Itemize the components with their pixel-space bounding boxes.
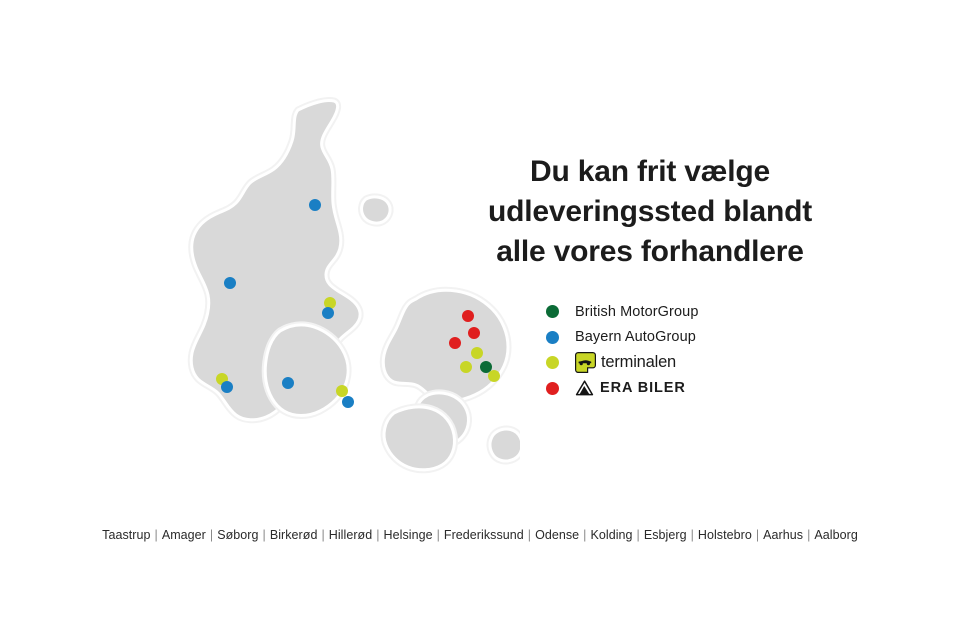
city-birker-d: Birkerød xyxy=(270,528,318,542)
city-kolding: Kolding xyxy=(590,528,632,542)
legend-swatch-dot xyxy=(546,331,559,344)
legend-item-era-biler[interactable]: ERA BILER xyxy=(546,376,846,402)
map-dot-helsinge[interactable]: Helsinge — ERA BILER xyxy=(462,310,474,322)
headline-line-1: Du kan frit vælge xyxy=(455,152,845,192)
city-separator: | xyxy=(633,528,644,542)
map-dot-aarhus[interactable]: Aarhus — Bayern AutoGroup xyxy=(322,307,334,319)
legend-item-label: terminalen xyxy=(601,353,676,372)
era-biler-lockup: ERA BILER xyxy=(575,380,686,397)
terminalen-logo-icon xyxy=(575,352,596,373)
city-taastrup: Taastrup xyxy=(102,528,150,542)
city-separator: | xyxy=(317,528,328,542)
map-dot-esbjerg[interactable]: Esbjerg — Bayern AutoGroup xyxy=(221,381,233,393)
city-aarhus: Aarhus xyxy=(763,528,803,542)
city-separator: | xyxy=(151,528,162,542)
city-esbjerg: Esbjerg xyxy=(644,528,687,542)
legend-swatch-dot xyxy=(546,305,559,318)
city-separator: | xyxy=(687,528,698,542)
city-holstebro: Holstebro xyxy=(698,528,752,542)
legend-item-bayern-autogroup[interactable]: Bayern AutoGroup xyxy=(546,325,846,351)
city-separator: | xyxy=(803,528,814,542)
headline-line-2: udleveringssted blandt xyxy=(455,192,845,232)
map-dot-amager[interactable]: Amager — British MotorGroup xyxy=(480,361,492,373)
legend-item-british-motorgroup[interactable]: British MotorGroup xyxy=(546,299,846,325)
map-dot-birker-d[interactable]: Birkerød — terminalen xyxy=(471,347,483,359)
city-separator: | xyxy=(524,528,535,542)
city-odense: Odense xyxy=(535,528,579,542)
map-dot-taastrup[interactable]: Taastrup — terminalen xyxy=(488,370,500,382)
map-region-laeso xyxy=(362,197,391,223)
city-separator: | xyxy=(433,528,444,542)
city-helsinge: Helsinge xyxy=(384,528,433,542)
legend-item-label: British MotorGroup xyxy=(575,304,698,320)
city-separator: | xyxy=(579,528,590,542)
city-hiller-d: Hillerød xyxy=(329,528,372,542)
page-title: Du kan frit vælge udleveringssted blandt… xyxy=(455,152,845,272)
city-amager: Amager xyxy=(162,528,206,542)
legend-item-label: Bayern AutoGroup xyxy=(575,329,696,345)
city-separator: | xyxy=(752,528,763,542)
city-frederikssund: Frederikssund xyxy=(444,528,524,542)
legend-item-label: ERA BILER xyxy=(600,380,686,396)
map-region-funen xyxy=(265,325,348,416)
map-dot-aalborg[interactable]: Aalborg — Bayern AutoGroup xyxy=(309,199,321,211)
city-separator: | xyxy=(259,528,270,542)
city-separator: | xyxy=(372,528,383,542)
map-dot-aarhus[interactable]: Aarhus — terminalen xyxy=(324,297,336,309)
legend-item-terminalen[interactable]: terminalen xyxy=(546,350,846,376)
legend-swatch-dot xyxy=(546,382,559,395)
map-dot-kolding[interactable]: Kolding — Bayern AutoGroup xyxy=(282,377,294,389)
map-region-bornholm xyxy=(490,429,520,461)
terminalen-lockup: terminalen xyxy=(575,352,676,373)
city-aalborg: Aalborg xyxy=(814,528,857,542)
map-dot-odense[interactable]: Odense — Bayern AutoGroup xyxy=(342,396,354,408)
headline-line-3: alle vores forhandlere xyxy=(455,232,845,272)
city-separator: | xyxy=(206,528,217,542)
map-dot-holstebro[interactable]: Holstebro — Bayern AutoGroup xyxy=(224,277,236,289)
map-region-lolland xyxy=(384,407,454,470)
city-s-borg: Søborg xyxy=(217,528,258,542)
legend-swatch-dot xyxy=(546,356,559,369)
map-dot-odense[interactable]: Odense — terminalen xyxy=(336,385,348,397)
map-dot-frederikssund[interactable]: Frederikssund — ERA BILER xyxy=(449,337,461,349)
city-list: Taastrup|Amager|Søborg|Birkerød|Hillerød… xyxy=(0,528,960,542)
era-biler-logo-icon xyxy=(575,380,595,397)
dealer-legend: British MotorGroupBayern AutoGrouptermin… xyxy=(546,299,846,401)
map-dot-hiller-d[interactable]: Hillerød — ERA BILER xyxy=(468,327,480,339)
map-dot-s-borg[interactable]: Søborg — terminalen xyxy=(460,361,472,373)
